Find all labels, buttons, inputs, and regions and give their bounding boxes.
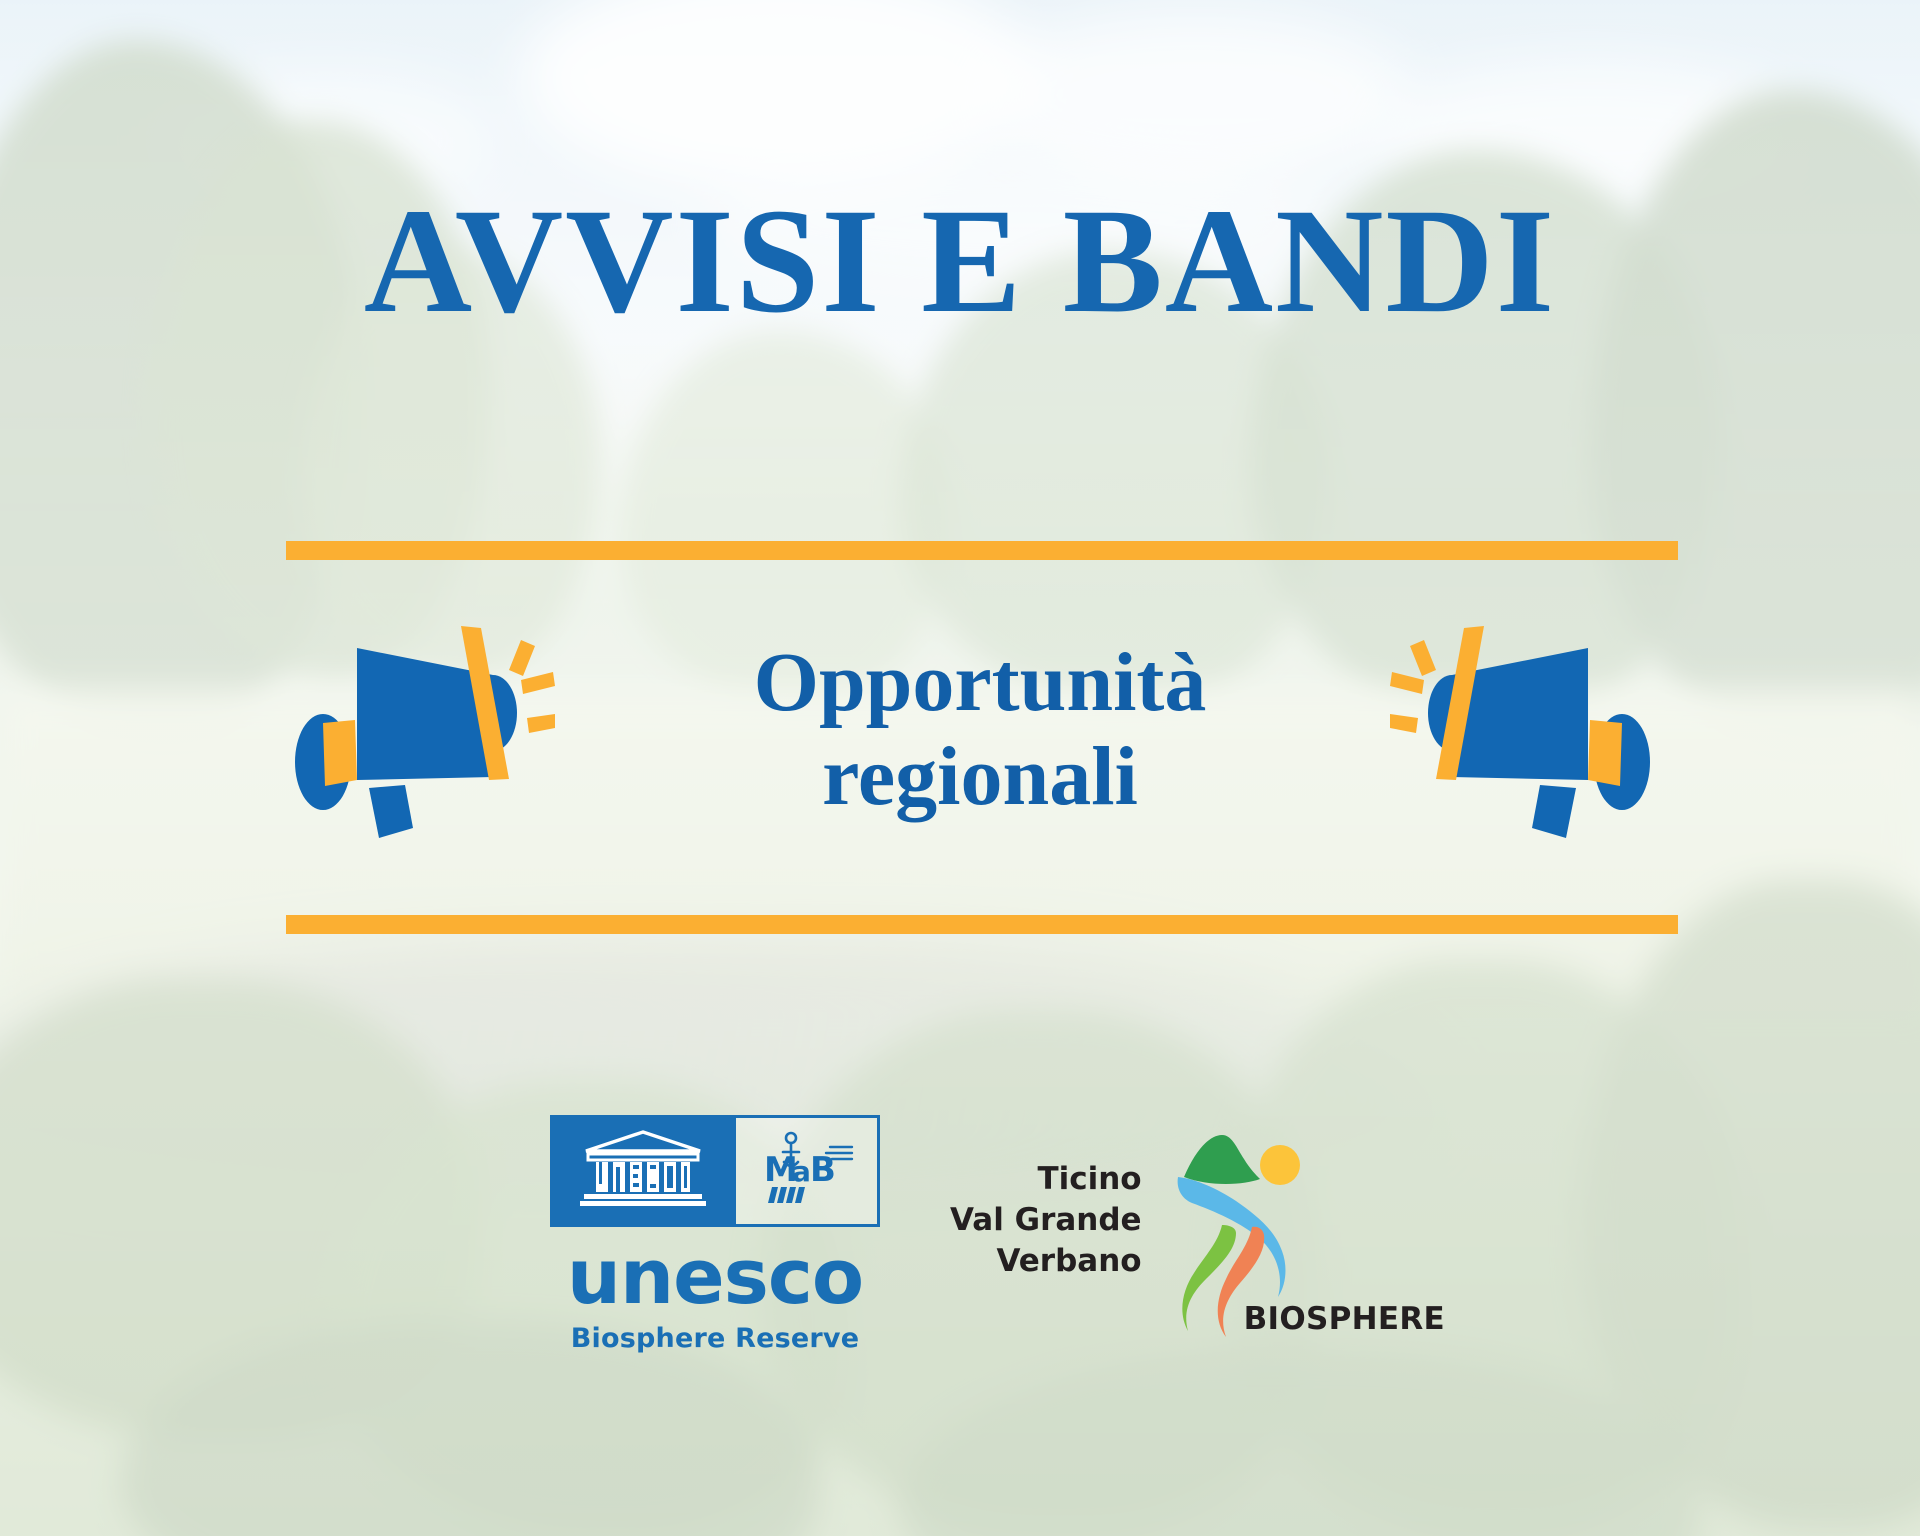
mab-logo-cell: M a B bbox=[733, 1118, 877, 1224]
ticino-line-1: Ticino bbox=[950, 1159, 1142, 1200]
unesco-emblem: M a B bbox=[550, 1115, 880, 1227]
ticino-biosphere-logo: Ticino Val Grande Verbano bbox=[950, 1133, 1370, 1343]
unesco-wordmark: unesco bbox=[550, 1241, 880, 1313]
logo-row: M a B bbox=[0, 1115, 1920, 1354]
ticino-wordmark: Ticino Val Grande Verbano bbox=[950, 1133, 1142, 1282]
svg-text:B: B bbox=[810, 1150, 836, 1190]
ticino-line-2: Val Grande bbox=[950, 1200, 1142, 1241]
mab-logo-icon: M a B bbox=[756, 1129, 856, 1213]
biosphere-label: BIOSPHERE bbox=[1244, 1301, 1445, 1337]
divider-bottom bbox=[286, 915, 1678, 934]
svg-text:a: a bbox=[792, 1155, 811, 1188]
ticino-mark: BIOSPHERE bbox=[1148, 1133, 1338, 1343]
unesco-tagline: Biosphere Reserve bbox=[550, 1323, 880, 1354]
subtitle-line-2: regionali bbox=[600, 730, 1360, 824]
unesco-temple-icon bbox=[578, 1129, 708, 1213]
poster: AVVISI E BANDI Opportunità regionali bbox=[0, 0, 1920, 1536]
ticino-line-3: Verbano bbox=[950, 1241, 1142, 1282]
unesco-logo: M a B bbox=[550, 1115, 880, 1354]
divider-top bbox=[286, 541, 1678, 560]
page-title: AVVISI E BANDI bbox=[0, 186, 1920, 336]
subtitle-line-1: Opportunità bbox=[754, 636, 1207, 729]
megaphone-icon bbox=[255, 620, 555, 850]
subtitle: Opportunità regionali bbox=[600, 636, 1360, 824]
megaphone-icon bbox=[1390, 620, 1690, 850]
unesco-temple-cell bbox=[553, 1118, 733, 1224]
